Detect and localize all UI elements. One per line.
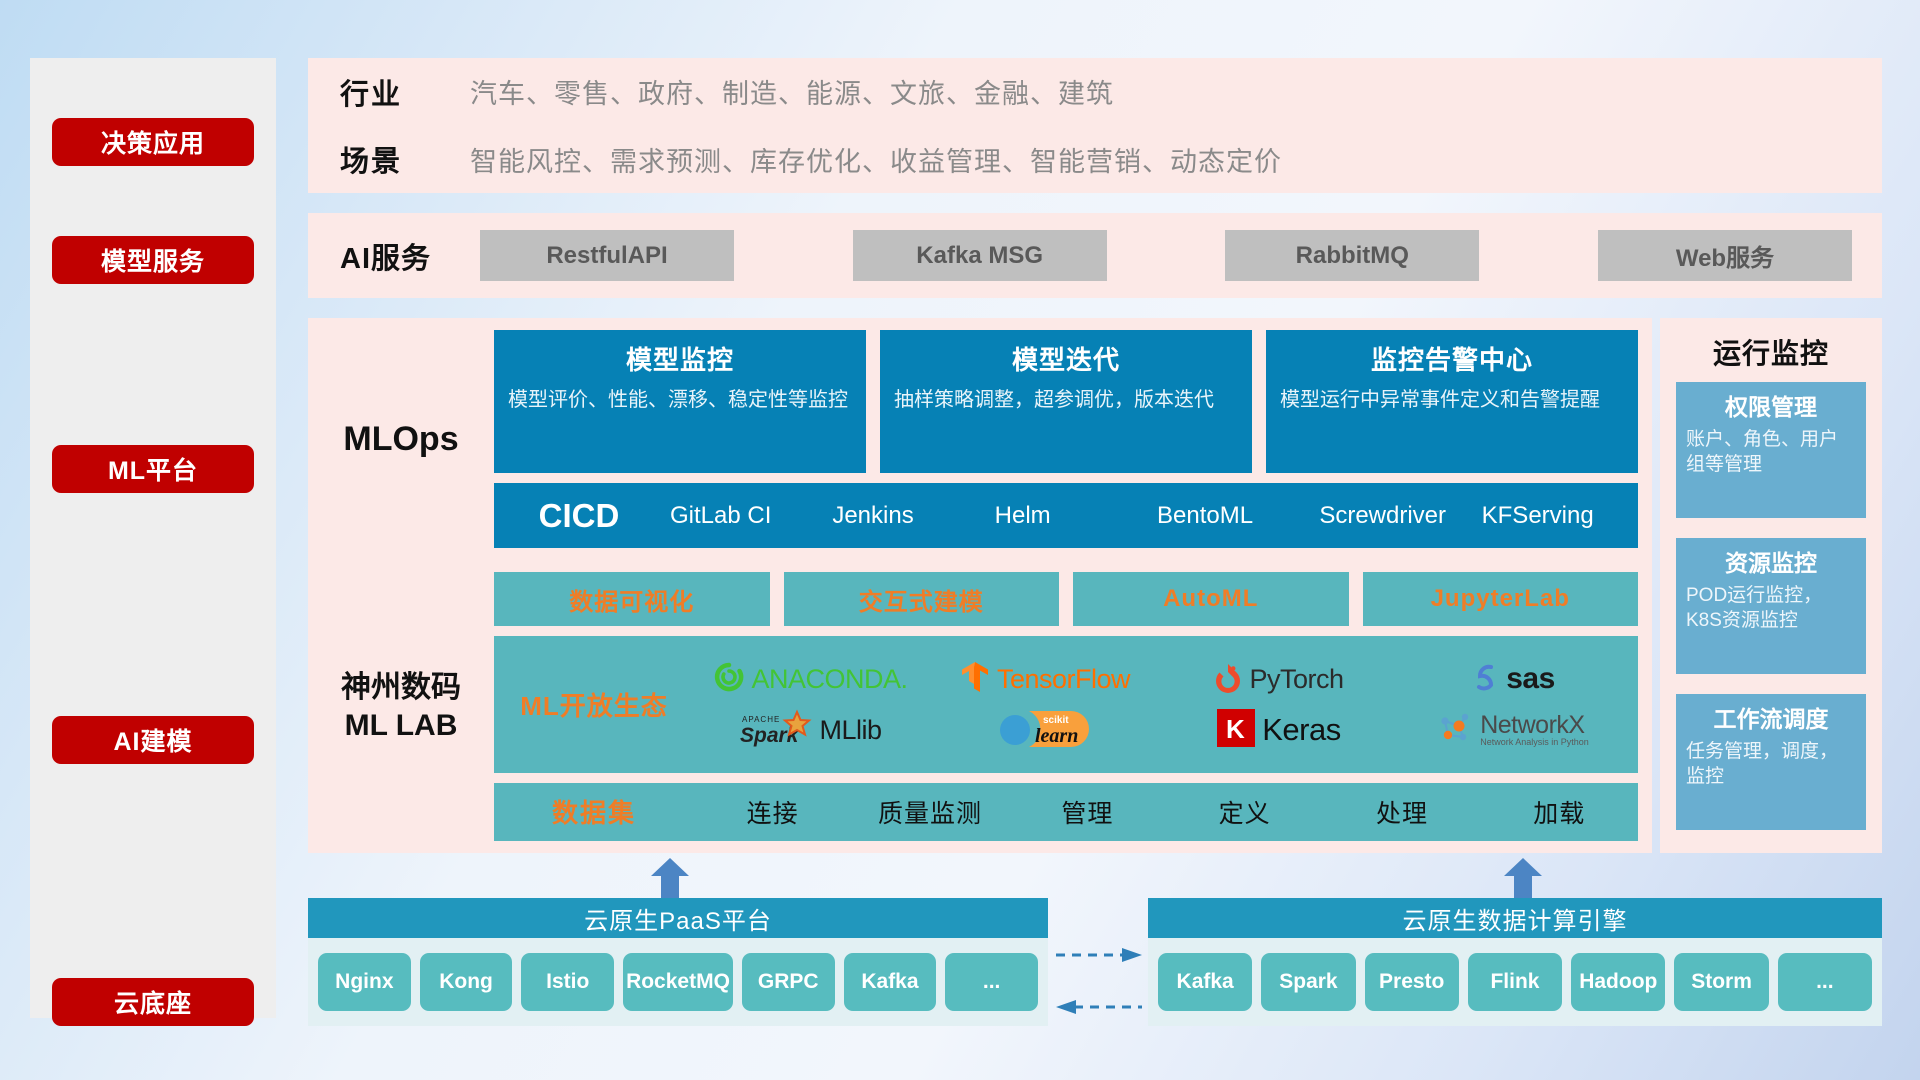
- cicd-item-screwdriver[interactable]: Screwdriver: [1313, 502, 1475, 530]
- card-title: 模型监控: [508, 340, 852, 377]
- lab-tool-data-visualization[interactable]: 数据可视化: [494, 572, 770, 626]
- spark-icon: APACHE Spark: [740, 709, 812, 752]
- cloud-paas-block: 云原生PaaS平台 Nginx Kong Istio RocketMQ GRPC…: [308, 898, 1048, 1026]
- cloud-chip-rocketmq[interactable]: RocketMQ: [623, 953, 733, 1011]
- networkx-wordmark: NetworkX: [1480, 713, 1589, 738]
- sas-icon: [1471, 662, 1499, 697]
- anaconda-icon: [714, 662, 744, 697]
- card-desc: 账户、角色、用户组等管理: [1686, 428, 1856, 477]
- ai-service-chip-restfulapi[interactable]: RestfulAPI: [480, 230, 734, 281]
- stage-chip-ml-platform[interactable]: ML平台: [52, 445, 254, 493]
- stage-chip-decision[interactable]: 决策应用: [52, 118, 254, 166]
- cloud-chip-istio[interactable]: Istio: [521, 953, 614, 1011]
- tensorflow-icon: [960, 661, 990, 698]
- scenario-row: 场景 智能风控、需求预测、库存优化、收益管理、智能营销、动态定价: [308, 126, 1882, 194]
- cloud-chip-grpc[interactable]: GRPC: [742, 953, 835, 1011]
- scenario-value: 智能风控、需求预测、库存优化、收益管理、智能营销、动态定价: [470, 140, 1282, 179]
- svg-text:learn: learn: [1035, 725, 1078, 747]
- card-title: 模型迭代: [894, 340, 1238, 377]
- mlops-layer-panel: MLOps 模型监控 模型评价、性能、漂移、稳定性等监控 模型迭代 抽样策略调整…: [308, 318, 1652, 560]
- dashed-arrow-left-icon: [1056, 1000, 1142, 1014]
- mlops-card-group: 模型监控 模型评价、性能、漂移、稳定性等监控 模型迭代 抽样策略调整，超参调优，…: [494, 330, 1638, 473]
- cloud-compute-title: 云原生数据计算引擎: [1148, 898, 1882, 938]
- cicd-item-jenkins[interactable]: Jenkins: [826, 502, 988, 530]
- ml-ecosystem-row: ML开放生态 ANACONDA.: [494, 636, 1638, 772]
- dataset-label: 数据集: [494, 793, 694, 830]
- industry-label: 行业: [340, 71, 470, 113]
- cicd-title: CICD: [494, 497, 664, 535]
- ml-lab-tool-group: 数据可视化 交互式建模 AutoML JupyterLab: [494, 572, 1638, 626]
- dataset-item-quality[interactable]: 质量监测: [851, 794, 1008, 830]
- card-desc: POD运行监控，K8S资源监控: [1686, 584, 1856, 633]
- networkx-icon: [1437, 711, 1473, 750]
- cicd-bar: CICD GitLab CI Jenkins Helm BentoML Scre…: [494, 483, 1638, 548]
- lab-tool-automl[interactable]: AutoML: [1073, 572, 1349, 626]
- networkx-logo: NetworkX Network Analysis in Python: [1437, 711, 1589, 750]
- mllib-wordmark: MLlib: [819, 715, 881, 746]
- sas-wordmark: sas: [1506, 662, 1555, 696]
- stage-chip-label: 决策应用: [101, 124, 205, 160]
- stage-chip-label: 模型服务: [101, 242, 205, 278]
- card-title: 资源监控: [1686, 544, 1856, 578]
- compute-chip-kafka[interactable]: Kafka: [1158, 953, 1252, 1011]
- networkx-wordmark-block: NetworkX Network Analysis in Python: [1480, 713, 1589, 747]
- networkx-tagline: Network Analysis in Python: [1480, 738, 1589, 747]
- stage-chip-label: 云底座: [114, 984, 192, 1020]
- keras-icon: K: [1217, 709, 1255, 752]
- application-layer-panel: 行业 汽车、零售、政府、制造、能源、文旅、金融、建筑 场景 智能风控、需求预测、…: [308, 58, 1882, 193]
- mlops-label: MLOps: [308, 318, 494, 560]
- monitoring-panel: 运行监控 权限管理 账户、角色、用户组等管理 资源监控 POD运行监控，K8S资…: [1660, 318, 1882, 853]
- pytorch-logo: PyTorch: [1214, 661, 1343, 698]
- cicd-item-bentoml[interactable]: BentoML: [1151, 502, 1313, 530]
- dataset-item-connect[interactable]: 连接: [694, 794, 851, 830]
- card-title: 权限管理: [1686, 388, 1856, 422]
- card-desc: 模型评价、性能、漂移、稳定性等监控: [508, 387, 852, 413]
- cicd-item-helm[interactable]: Helm: [989, 502, 1151, 530]
- ai-service-chip-web-service[interactable]: Web服务: [1598, 230, 1852, 281]
- monitoring-card-resource[interactable]: 资源监控 POD运行监控，K8S资源监控: [1676, 538, 1866, 674]
- mlops-card-model-monitoring[interactable]: 模型监控 模型评价、性能、漂移、稳定性等监控: [494, 330, 866, 473]
- pytorch-wordmark: PyTorch: [1249, 664, 1343, 695]
- dataset-item-manage[interactable]: 管理: [1009, 794, 1166, 830]
- compute-chip-storm[interactable]: Storm: [1674, 953, 1768, 1011]
- ml-lab-label-en: ML LAB: [345, 707, 458, 745]
- cloud-paas-chip-group: Nginx Kong Istio RocketMQ GRPC Kafka ...: [308, 938, 1048, 1026]
- cicd-item-gitlab-ci[interactable]: GitLab CI: [664, 502, 826, 530]
- keras-logo: K Keras: [1217, 709, 1340, 752]
- compute-chip-flink[interactable]: Flink: [1468, 953, 1562, 1011]
- ml-lab-layer-panel: 神州数码 ML LAB 数据可视化 交互式建模 AutoML JupyterLa…: [308, 560, 1652, 853]
- cicd-item-kfserving[interactable]: KFServing: [1476, 502, 1638, 530]
- cloud-compute-chip-group: Kafka Spark Presto Flink Hadoop Storm ..…: [1148, 938, 1882, 1026]
- stage-chip-model-service[interactable]: 模型服务: [52, 236, 254, 284]
- pytorch-icon: [1214, 661, 1242, 698]
- compute-chip-hadoop[interactable]: Hadoop: [1571, 953, 1665, 1011]
- lab-tool-jupyterlab[interactable]: JupyterLab: [1363, 572, 1639, 626]
- ai-service-chip-rabbitmq[interactable]: RabbitMQ: [1225, 230, 1479, 281]
- dashed-arrow-right-icon: [1056, 948, 1142, 962]
- card-desc: 抽样策略调整，超参调优，版本迭代: [894, 387, 1238, 413]
- ml-lab-label: 神州数码 ML LAB: [308, 560, 494, 853]
- stage-chip-label: AI建模: [113, 722, 192, 758]
- ml-ecosystem-label: ML开放生态: [494, 686, 694, 723]
- spark-mllib-logo: APACHE Spark MLlib: [740, 709, 881, 752]
- industry-row: 行业 汽车、零售、政府、制造、能源、文旅、金融、建筑: [308, 58, 1882, 126]
- compute-chip-presto[interactable]: Presto: [1365, 953, 1459, 1011]
- stage-chip-label: ML平台: [108, 451, 198, 487]
- cloud-chip-kong[interactable]: Kong: [420, 953, 513, 1011]
- card-desc: 任务管理，调度，监控: [1686, 740, 1856, 789]
- dataset-row: 数据集 连接 质量监测 管理 定义 处理 加载: [494, 783, 1638, 841]
- cloud-chip-kafka[interactable]: Kafka: [844, 953, 937, 1011]
- cloud-paas-title: 云原生PaaS平台: [308, 898, 1048, 938]
- dataset-item-define[interactable]: 定义: [1166, 794, 1323, 830]
- stage-rail: 决策应用 模型服务 ML平台 AI建模 云底座: [30, 58, 276, 1018]
- ai-service-label: AI服务: [340, 235, 470, 277]
- ai-service-chip-kafka-msg[interactable]: Kafka MSG: [853, 230, 1107, 281]
- stage-chip-ai-modeling[interactable]: AI建模: [52, 716, 254, 764]
- tensorflow-wordmark: TensorFlow: [997, 664, 1130, 695]
- monitoring-card-permission[interactable]: 权限管理 账户、角色、用户组等管理: [1676, 382, 1866, 518]
- ai-service-layer-panel: AI服务 RestfulAPI Kafka MSG RabbitMQ Web服务: [308, 213, 1882, 298]
- ai-service-chip-group: RestfulAPI Kafka MSG RabbitMQ Web服务: [470, 230, 1882, 281]
- cloud-compute-block: 云原生数据计算引擎 Kafka Spark Presto Flink Hadoo…: [1148, 898, 1882, 1026]
- tensorflow-logo: TensorFlow: [960, 661, 1130, 698]
- card-title: 工作流调度: [1686, 700, 1856, 734]
- compute-chip-more[interactable]: ...: [1778, 953, 1872, 1011]
- anaconda-logo: ANACONDA.: [714, 662, 907, 697]
- monitoring-card-workflow[interactable]: 工作流调度 任务管理，调度，监控: [1676, 694, 1866, 830]
- svg-text:K: K: [1226, 714, 1245, 744]
- stage-chip-cloud-foundation[interactable]: 云底座: [52, 978, 254, 1026]
- dataset-item-load[interactable]: 加载: [1481, 794, 1638, 830]
- svg-text:APACHE: APACHE: [742, 715, 780, 724]
- keras-wordmark: Keras: [1262, 712, 1340, 748]
- lab-tool-interactive-modeling[interactable]: 交互式建模: [784, 572, 1060, 626]
- sas-logo: sas: [1471, 662, 1555, 697]
- ml-lab-label-cn: 神州数码: [341, 669, 461, 707]
- card-title: 监控告警中心: [1280, 340, 1624, 377]
- mlops-card-model-iteration[interactable]: 模型迭代 抽样策略调整，超参调优，版本迭代: [880, 330, 1252, 473]
- mlops-card-alert-center[interactable]: 监控告警中心 模型运行中异常事件定义和告警提醒: [1266, 330, 1638, 473]
- cloud-chip-nginx[interactable]: Nginx: [318, 953, 411, 1011]
- dataset-item-process[interactable]: 处理: [1323, 794, 1480, 830]
- cloud-chip-more[interactable]: ...: [945, 953, 1038, 1011]
- ml-ecosystem-logo-grid: ANACONDA. TensorFlow: [694, 654, 1638, 756]
- anaconda-wordmark: ANACONDA.: [751, 664, 907, 695]
- scikit-learn-icon: scikit learn: [999, 705, 1091, 756]
- card-desc: 模型运行中异常事件定义和告警提醒: [1280, 387, 1624, 413]
- scenario-label: 场景: [340, 138, 470, 180]
- up-arrow-icon-compute: [1502, 858, 1544, 900]
- monitoring-panel-title: 运行监控: [1660, 318, 1882, 382]
- up-arrow-icon-paas: [649, 858, 691, 900]
- compute-chip-spark[interactable]: Spark: [1261, 953, 1355, 1011]
- industry-value: 汽车、零售、政府、制造、能源、文旅、金融、建筑: [470, 72, 1114, 111]
- scikit-learn-logo: scikit learn: [999, 705, 1091, 756]
